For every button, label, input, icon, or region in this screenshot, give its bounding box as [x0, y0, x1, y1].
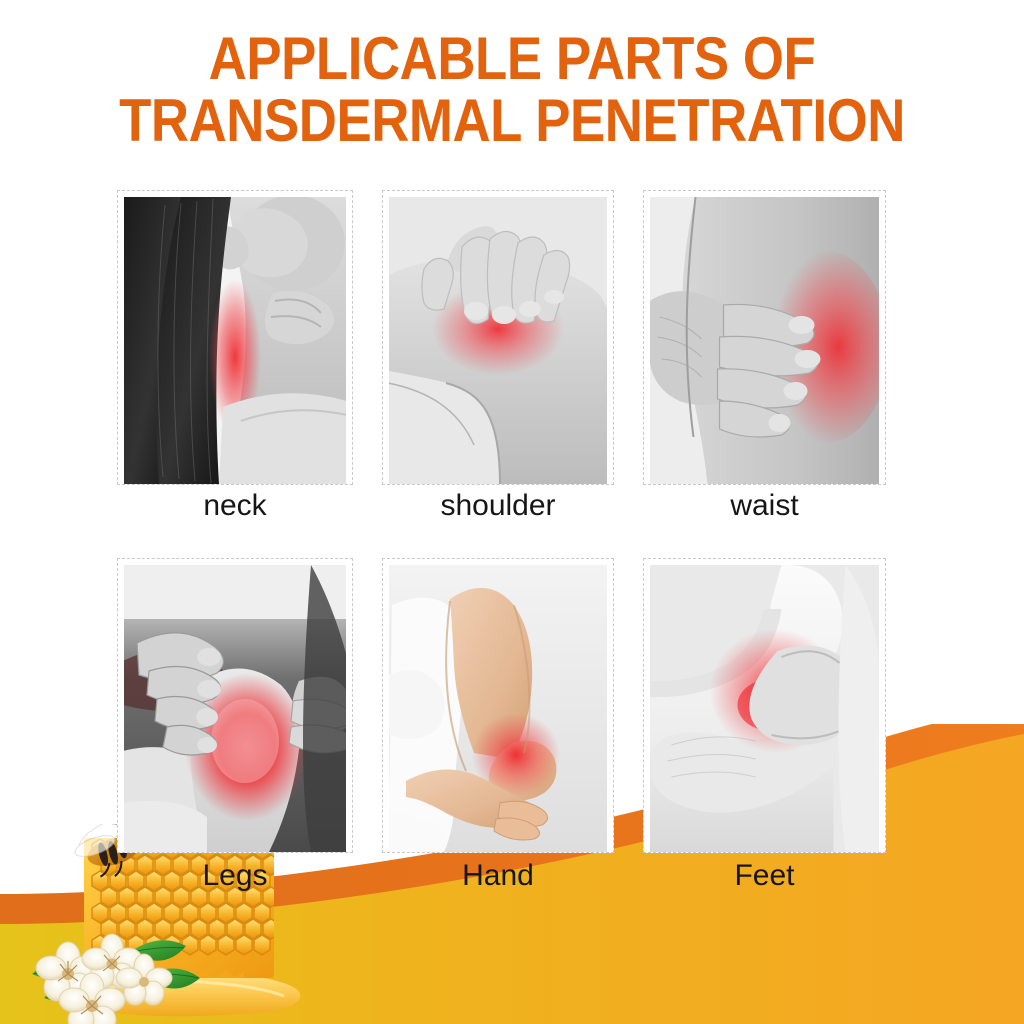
tile-label-waist: waist [644, 489, 885, 523]
body-parts-grid: neck [0, 190, 1024, 886]
tile-legs[interactable]: Legs [117, 558, 353, 853]
tile-hand[interactable]: Hand [382, 558, 614, 853]
grid-row-2: Legs [0, 558, 1024, 886]
elbow-photo [389, 565, 607, 852]
page-title: APPLICABLE PARTS OF TRANSDERMAL PENETRAT… [0, 28, 1024, 152]
title-line-2: TRANSDERMAL PENETRATION [61, 90, 962, 152]
tile-waist[interactable]: waist [643, 190, 886, 485]
tile-label-neck: neck [118, 489, 352, 523]
white-blossoms [32, 934, 200, 1024]
neck-photo [124, 197, 346, 484]
grid-row-1: neck [0, 190, 1024, 518]
tile-feet[interactable]: Feet [643, 558, 886, 853]
tile-label-feet: Feet [644, 859, 885, 893]
tile-neck[interactable]: neck [117, 190, 353, 485]
tile-shoulder[interactable]: shoulder [382, 190, 614, 485]
title-line-1: APPLICABLE PARTS OF [61, 28, 962, 90]
tile-label-legs: Legs [118, 859, 352, 893]
ankle-photo [650, 565, 879, 852]
tile-label-hand: Hand [383, 859, 613, 893]
honey-puddle [61, 968, 300, 1016]
waist-photo [650, 197, 879, 484]
knee-photo [124, 565, 346, 852]
tile-label-shoulder: shoulder [383, 489, 613, 523]
shoulder-photo [389, 197, 607, 484]
